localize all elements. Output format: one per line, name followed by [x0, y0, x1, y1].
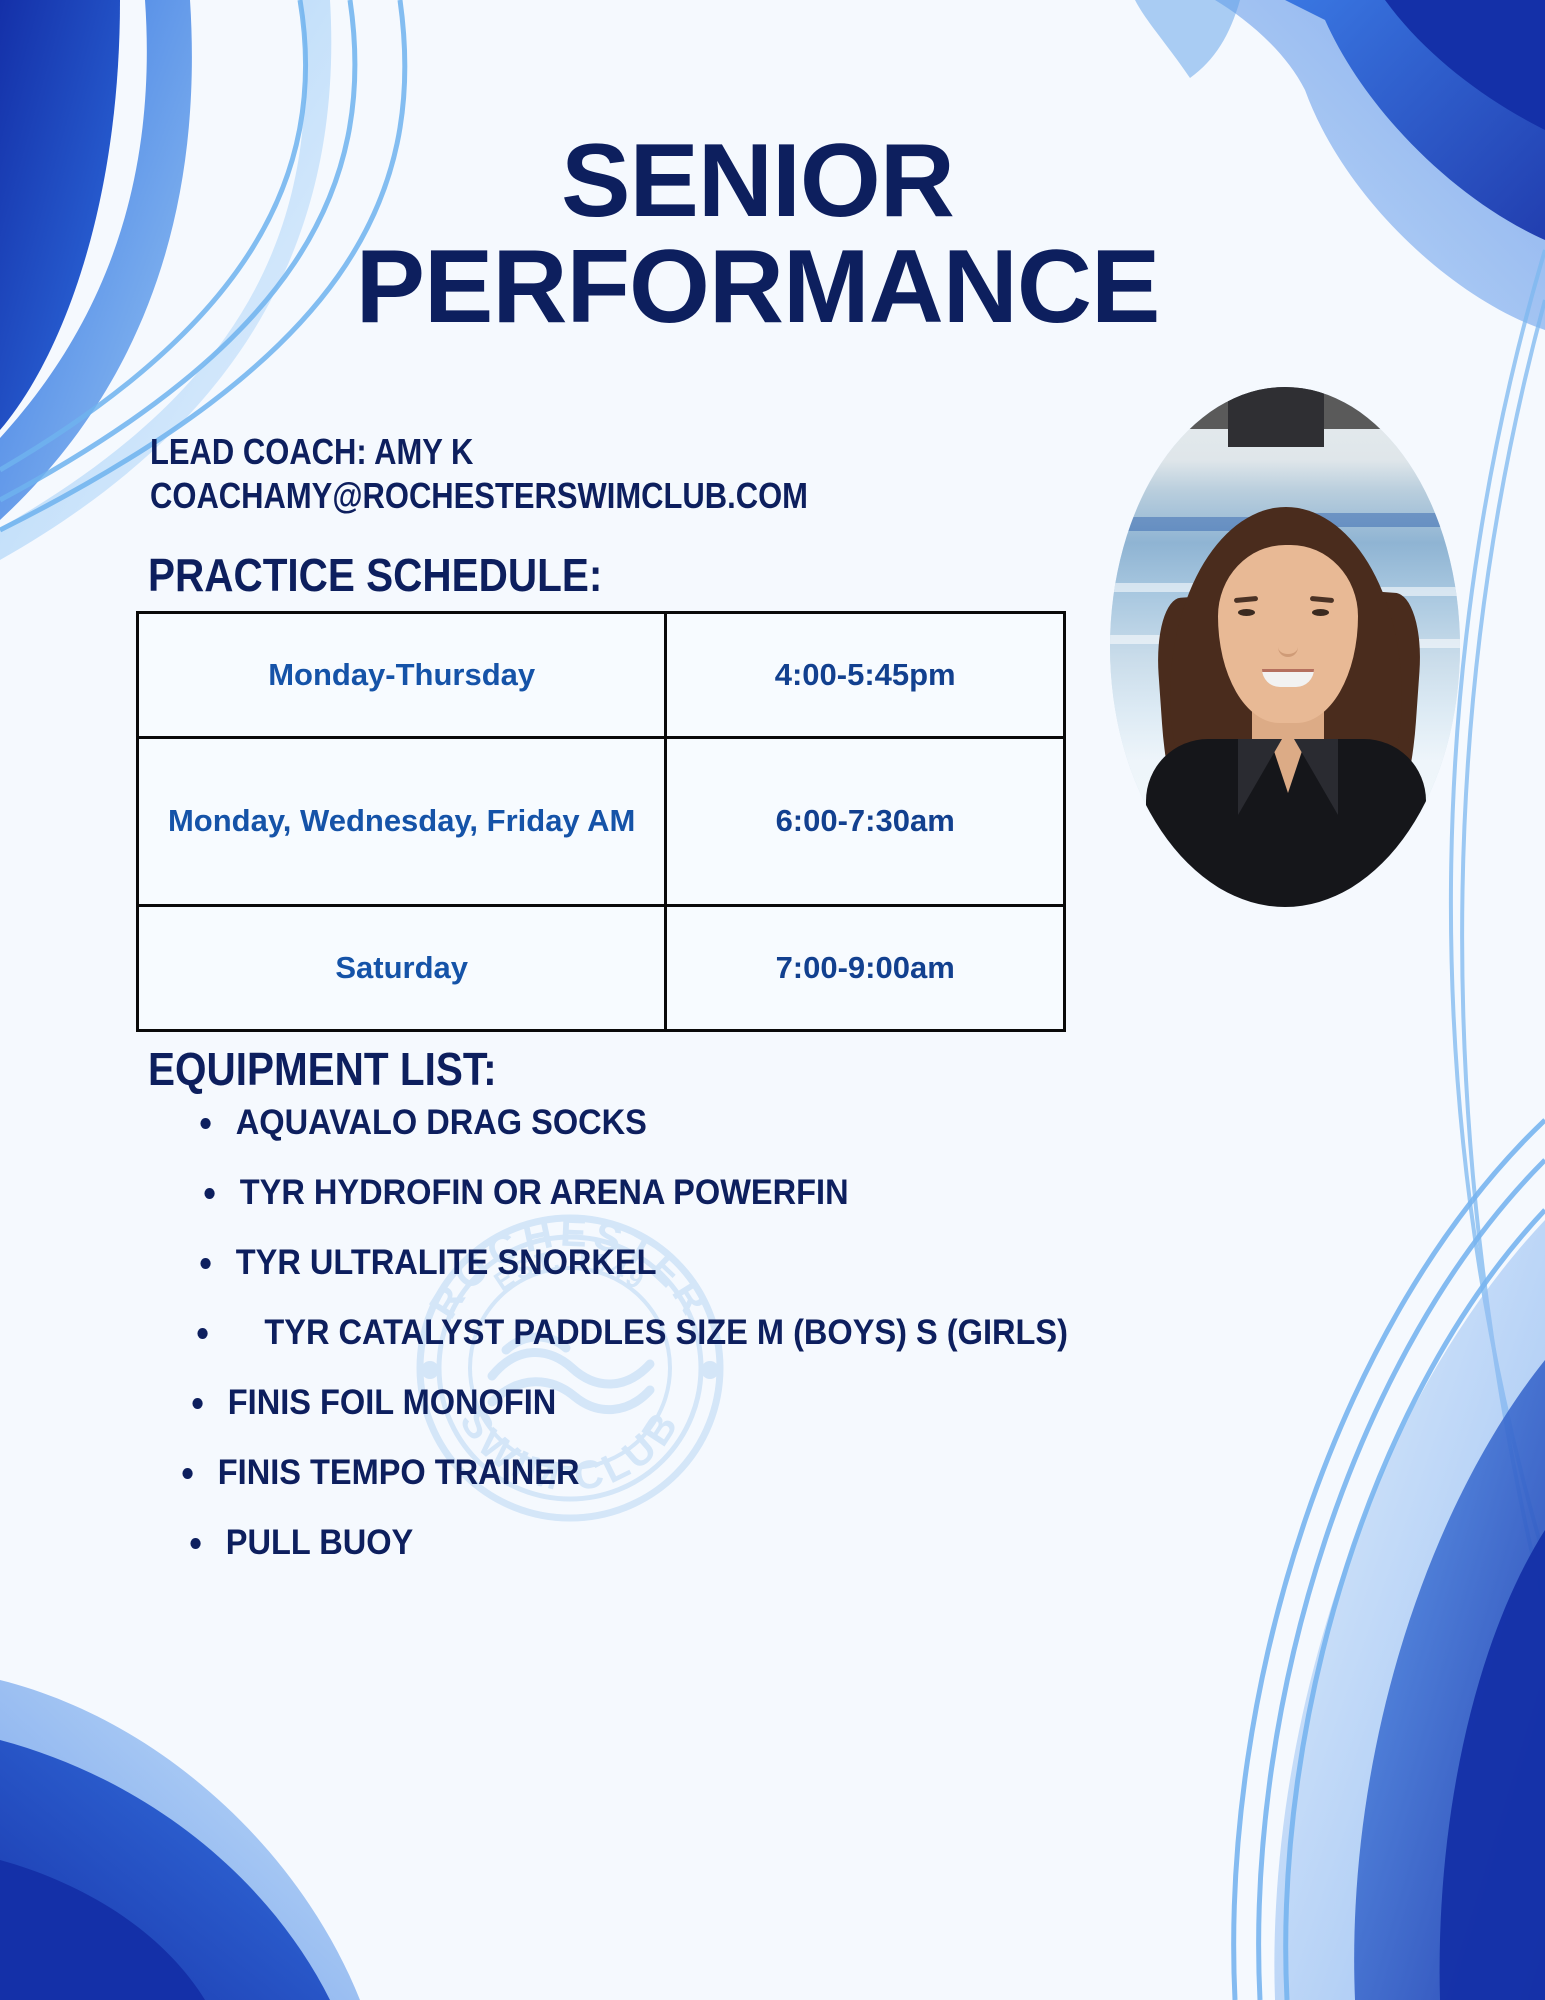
- poster-content: SENIOR PERFORMANCE LEAD COACH: AMY K COA…: [0, 0, 1545, 2000]
- list-item: TYR HYDROFIN OR ARENA POWERFIN: [197, 1175, 1246, 1210]
- equipment-item-label: PULL BUOY: [226, 1523, 413, 1562]
- list-item: AQUAVALO DRAG SOCKS: [193, 1105, 1246, 1140]
- equipment-list-heading: EQUIPMENT LIST:: [148, 1042, 497, 1096]
- page-title: SENIOR PERFORMANCE: [0, 128, 1545, 340]
- equipment-item-label: TYR CATALYST PADDLES SIZE M (BOYS) S (GI…: [264, 1313, 1068, 1352]
- equipment-item-label: FINIS FOIL MONOFIN: [228, 1383, 557, 1422]
- coach-contact-block: LEAD COACH: AMY K COACHAMY@ROCHESTERSWIM…: [150, 430, 808, 518]
- eye-right: [1312, 609, 1329, 616]
- poster-canvas: ROCHESTER EST. 1949 SWIM CLUB: [0, 0, 1545, 2000]
- photo-top-band-dark: [1228, 387, 1324, 447]
- schedule-time-cell: 6:00-7:30am: [666, 738, 1065, 906]
- table-row: Saturday 7:00-9:00am: [138, 906, 1065, 1031]
- list-item: PULL BUOY: [183, 1525, 1245, 1560]
- collar-left: [1238, 739, 1282, 815]
- bullet-icon: [182, 1468, 192, 1479]
- coach-name: LEAD COACH: AMY K: [150, 430, 808, 474]
- schedule-time-cell: 7:00-9:00am: [666, 906, 1065, 1031]
- coach-email[interactable]: COACHAMY@ROCHESTERSWIMCLUB.COM: [150, 474, 808, 518]
- title-line-2: PERFORMANCE: [60, 234, 1455, 340]
- eye-left: [1238, 609, 1255, 616]
- coach-photo: [1110, 387, 1460, 907]
- table-row: Monday-Thursday 4:00-5:45pm: [138, 613, 1065, 738]
- list-item: TYR CATALYST PADDLES SIZE M (BOYS) S (GI…: [190, 1315, 1246, 1350]
- bullet-icon: [200, 1258, 210, 1269]
- list-item: FINIS FOIL MONOFIN: [185, 1385, 1245, 1420]
- title-line-1: SENIOR: [561, 123, 954, 239]
- table-row: Monday, Wednesday, Friday AM 6:00-7:30am: [138, 738, 1065, 906]
- schedule-time-cell: 4:00-5:45pm: [666, 613, 1065, 738]
- schedule-days-cell: Saturday: [138, 906, 666, 1031]
- equipment-item-label: AQUAVALO DRAG SOCKS: [236, 1103, 647, 1142]
- practice-schedule-heading: PRACTICE SCHEDULE:: [148, 548, 602, 602]
- equipment-list: AQUAVALO DRAG SOCKS TYR HYDROFIN OR AREN…: [175, 1105, 1325, 1595]
- schedule-days-cell: Monday-Thursday: [138, 613, 666, 738]
- equipment-item-label: FINIS TEMPO TRAINER: [218, 1453, 580, 1492]
- bullet-icon: [190, 1538, 200, 1549]
- bullet-icon: [192, 1398, 202, 1409]
- nose: [1278, 635, 1298, 657]
- schedule-days-cell: Monday, Wednesday, Friday AM: [138, 738, 666, 906]
- equipment-item-label: TYR HYDROFIN OR ARENA POWERFIN: [240, 1173, 849, 1212]
- list-item: FINIS TEMPO TRAINER: [175, 1455, 1245, 1490]
- equipment-item-label: TYR ULTRALITE SNORKEL: [236, 1243, 657, 1282]
- bullet-icon: [204, 1188, 214, 1199]
- bullet-icon: [200, 1118, 210, 1129]
- bullet-icon: [197, 1328, 207, 1339]
- face: [1218, 545, 1358, 723]
- collar-right: [1294, 739, 1338, 815]
- practice-schedule-table: Monday-Thursday 4:00-5:45pm Monday, Wedn…: [136, 611, 1066, 1032]
- list-item: TYR ULTRALITE SNORKEL: [193, 1245, 1246, 1280]
